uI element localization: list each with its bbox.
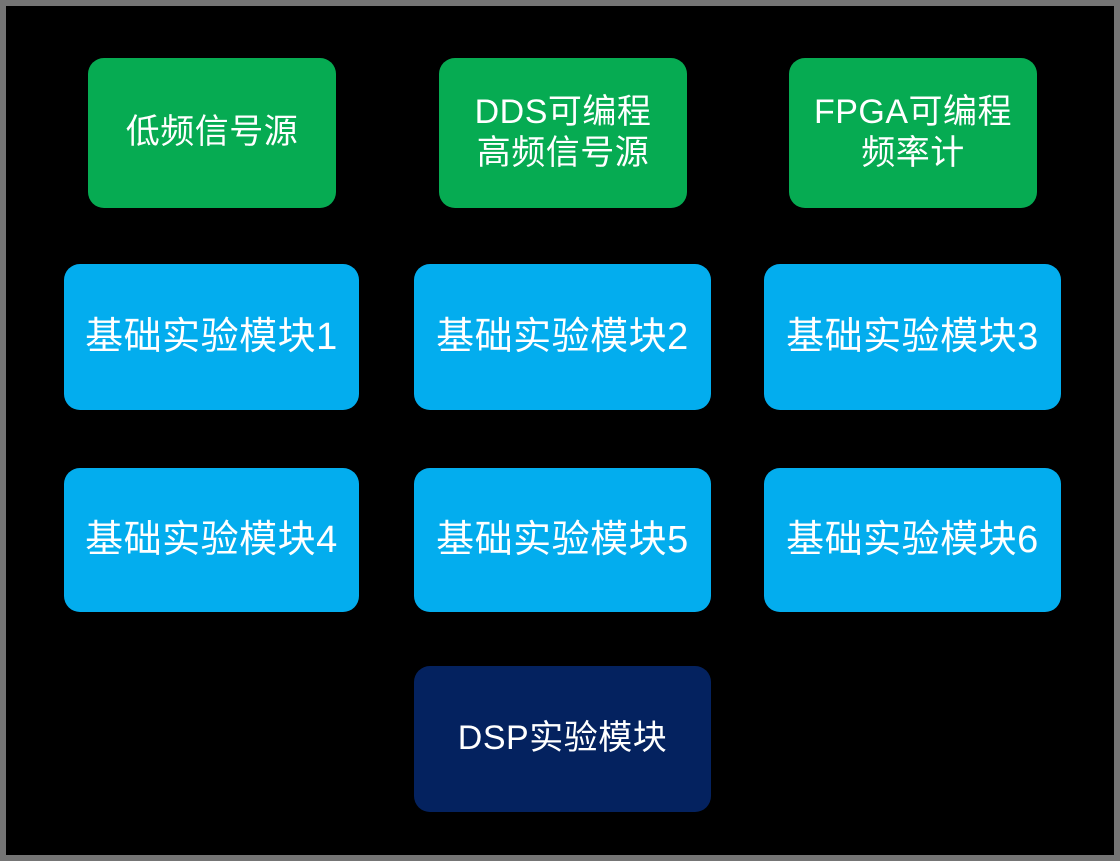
node-basic-experiment-module-6[interactable]: 基础实验模块6 — [764, 468, 1061, 612]
node-basic-experiment-module-1[interactable]: 基础实验模块1 — [64, 264, 359, 410]
node-basic-experiment-module-4[interactable]: 基础实验模块4 — [64, 468, 359, 612]
node-basic-experiment-module-3[interactable]: 基础实验模块3 — [764, 264, 1061, 410]
node-dsp-experiment-module[interactable]: DSP实验模块 — [414, 666, 711, 812]
node-fpga-programmable-frequency-counter[interactable]: FPGA可编程 频率计 — [789, 58, 1037, 208]
diagram-canvas: 低频信号源 DDS可编程 高频信号源 FPGA可编程 频率计 基础实验模块1 基… — [0, 0, 1120, 861]
node-basic-experiment-module-2[interactable]: 基础实验模块2 — [414, 264, 711, 410]
node-basic-experiment-module-5[interactable]: 基础实验模块5 — [414, 468, 711, 612]
node-dds-programmable-high-frequency-signal-source[interactable]: DDS可编程 高频信号源 — [439, 58, 687, 208]
node-low-frequency-signal-source[interactable]: 低频信号源 — [88, 58, 336, 208]
